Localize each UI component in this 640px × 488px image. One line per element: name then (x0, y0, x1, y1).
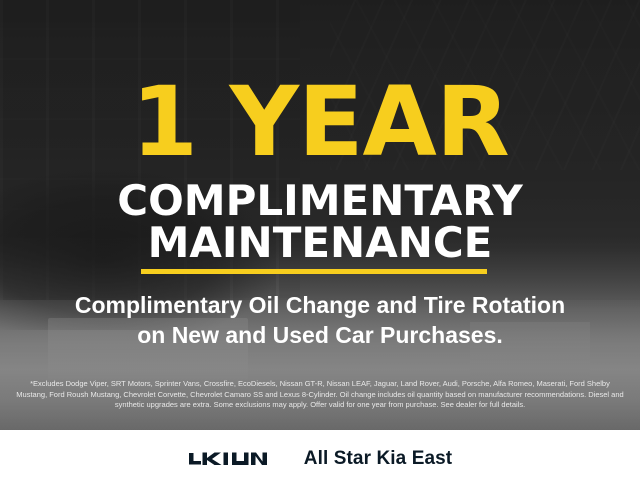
headline-secondary-line2: MAINTENANCE (0, 222, 640, 264)
headline-secondary-line1: COMPLIMENTARY (0, 180, 640, 222)
tagline-line-1: Complimentary Oil Change and Tire Rotati… (0, 290, 640, 320)
dealer-footer: All Star Kia East (0, 430, 640, 488)
yellow-divider-rule (141, 269, 487, 274)
tagline: Complimentary Oil Change and Tire Rotati… (0, 290, 640, 350)
promotional-banner: 1 YEAR COMPLIMENTARY MAINTENANCE Complim… (0, 0, 640, 488)
disclaimer-text: *Excludes Dodge Viper, SRT Motors, Sprin… (14, 379, 626, 411)
kia-logo-icon (188, 448, 276, 470)
headline-primary: 1 YEAR (0, 74, 640, 170)
dealer-name: All Star Kia East (304, 448, 452, 470)
hero-image-area: 1 YEAR COMPLIMENTARY MAINTENANCE Complim… (0, 0, 640, 430)
tagline-line-2: on New and Used Car Purchases. (0, 320, 640, 350)
hero-text-content: 1 YEAR COMPLIMENTARY MAINTENANCE Complim… (0, 0, 640, 430)
